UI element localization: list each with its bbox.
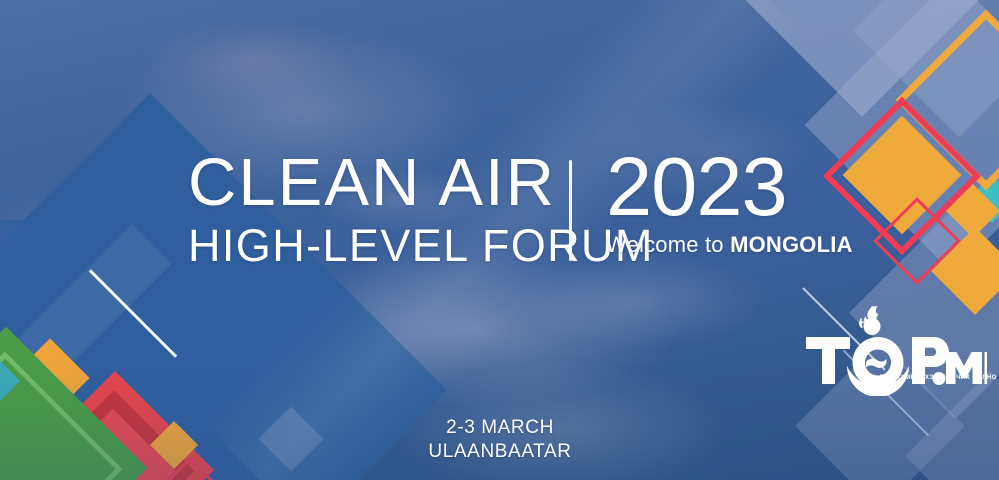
headline-line-1: CLEAN AIR xyxy=(188,148,654,218)
welcome-prefix: Welcome to xyxy=(606,232,730,257)
year-block: 2023 Welcome to MONGOLIA xyxy=(606,144,853,258)
vertical-divider xyxy=(569,160,572,261)
headline-line-2: HIGH-LEVEL FORUM xyxy=(188,220,654,272)
welcome-line: Welcome to MONGOLIA xyxy=(606,232,853,258)
event-dates: 2-3 MARCH xyxy=(380,416,620,440)
event-banner: CLEAN AIR HIGH-LEVEL FORUM 2023 Welcome … xyxy=(0,0,999,480)
event-details: 2-3 MARCH ULAANBAATAR xyxy=(380,416,620,464)
logo-tagline: ТӨР, ТҮМНИЙХЭЭ НҮД ЧИХ БОЛНО xyxy=(880,374,997,382)
tor-mn-logo[interactable]: ТӨР, ТҮМНИЙХЭЭ НҮД ЧИХ БОЛНО xyxy=(806,304,992,396)
soyombo-flame-icon xyxy=(806,304,992,396)
page-title: CLEAN AIR HIGH-LEVEL FORUM xyxy=(188,148,654,272)
welcome-country: MONGOLIA xyxy=(730,232,853,257)
event-year: 2023 xyxy=(606,144,853,230)
event-city: ULAANBAATAR xyxy=(380,440,620,464)
